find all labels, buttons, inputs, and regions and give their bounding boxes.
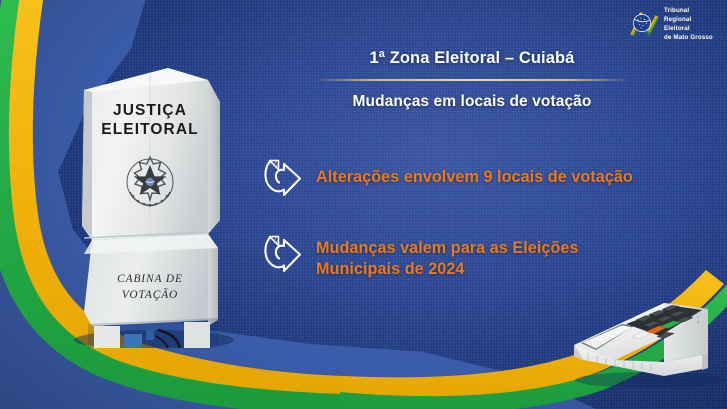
bullet-text: Mudanças valem para as Eleições Municipa… [316, 234, 579, 281]
page-title: 1ª Zona Eleitoral – Cuiabá [232, 48, 712, 69]
heading-block: 1ª Zona Eleitoral – Cuiabá Mudanças em l… [232, 48, 712, 111]
curved-arrow-right-icon [259, 154, 305, 200]
bullet-item: Alterações envolvem 9 locais de votação [259, 158, 711, 200]
tre-mt-logo-text: Tribunal Regional Eleitoral de Mato Gros… [664, 7, 713, 42]
bullet-line: Mudanças valem para as Eleições [316, 238, 579, 259]
booth-caption-line1: CABINA DE [117, 273, 183, 285]
voting-booth-photo: JUSTIÇA ELEITORAL CABINA DE VOTAÇÃO [58, 58, 244, 348]
gold-divider [317, 79, 627, 81]
slide-canvas: JUSTIÇA ELEITORAL CABINA DE VOTAÇÃO [0, 0, 727, 409]
logo-line-2: Regional [664, 16, 713, 25]
logo-line-1: Tribunal [664, 7, 713, 16]
logo-line-3: Eleitoral [664, 25, 713, 34]
booth-label-line2: ELEITORAL [101, 121, 198, 138]
bullet-item: Mudanças valem para as Eleições Municipa… [259, 234, 711, 281]
bullet-line: Municipais de 2024 [316, 259, 579, 280]
tre-mt-logo: Tribunal Regional Eleitoral de Mato Gros… [630, 7, 722, 43]
page-subtitle: Mudanças em locais de votação [232, 93, 712, 111]
booth-label-line1: JUSTIÇA [113, 102, 187, 119]
logo-line-4: de Mato Grosso [664, 34, 713, 43]
brazil-globe-icon [630, 10, 660, 40]
electronic-voting-machine-photo [556, 288, 727, 388]
bullet-line: Alterações envolvem 9 locais de votação [316, 167, 633, 188]
booth-caption-line2: VOTAÇÃO [122, 289, 178, 301]
bullet-text: Alterações envolvem 9 locais de votação [316, 158, 633, 188]
curved-arrow-right-icon [259, 230, 305, 276]
